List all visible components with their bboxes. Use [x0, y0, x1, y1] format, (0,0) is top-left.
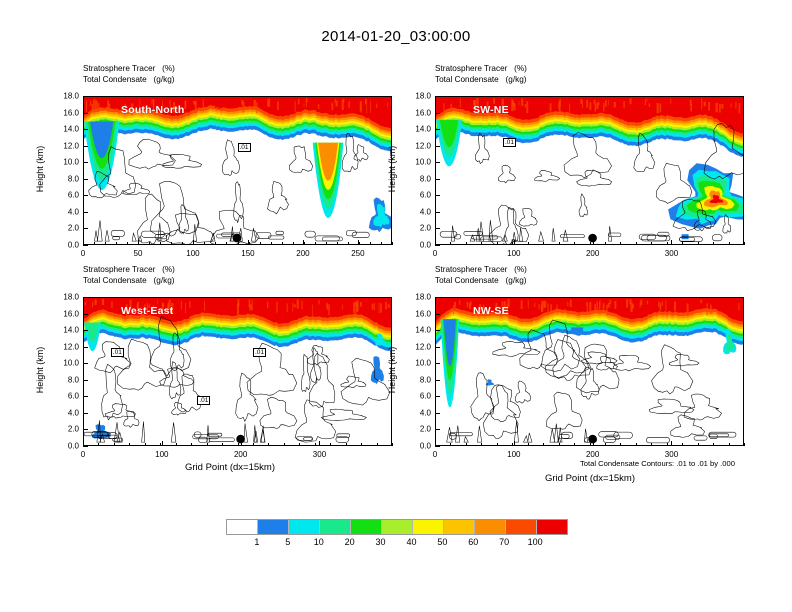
xtick-minor — [182, 242, 183, 245]
ytick-label: 0.0 — [401, 241, 431, 250]
ytick-label: 12.0 — [401, 141, 431, 150]
colorbar-tick-label: 10 — [314, 537, 324, 547]
xtick-mark — [593, 441, 594, 446]
xtick-label: 200 — [234, 450, 247, 459]
ytick-label: 16.0 — [49, 108, 79, 117]
xtick-mark — [514, 240, 515, 245]
tracer-field-nw-se — [436, 298, 743, 445]
ytick-mark — [83, 245, 88, 246]
xtick-minor — [713, 443, 714, 446]
colorbar-tick-label: 1 — [254, 537, 259, 547]
ytick-mark — [83, 347, 88, 348]
xtick-minor — [226, 242, 227, 245]
ytick-label: 14.0 — [49, 326, 79, 335]
panel-header-sw-ne: Stratosphere Tracer (%)Total Condensate … — [435, 64, 527, 85]
ytick-mark — [435, 212, 440, 213]
ytick-mark — [435, 347, 440, 348]
ytick-mark — [435, 228, 440, 229]
xtick-mark — [593, 240, 594, 245]
ytick-label: 8.0 — [49, 375, 79, 384]
ytick-label: 4.0 — [49, 408, 79, 417]
colorbar-tick-label: 20 — [345, 537, 355, 547]
ytick-label: 0.0 — [49, 442, 79, 451]
xtick-minor — [83, 443, 84, 446]
xtick-minor — [222, 443, 223, 446]
xtick-minor — [620, 443, 621, 446]
contour-value-label: .01 — [503, 138, 516, 147]
colorbar-tick-label: 30 — [376, 537, 386, 547]
ytick-label: 12.0 — [49, 342, 79, 351]
xtick-minor — [193, 242, 194, 245]
ytick-mark — [435, 113, 440, 114]
contour-value-label: .01 — [111, 348, 124, 357]
colorbar-segment — [227, 520, 257, 534]
xtick-minor — [605, 443, 606, 446]
ytick-mark — [435, 195, 440, 196]
xtick-minor — [450, 242, 451, 245]
xtick-label: 100 — [507, 450, 520, 459]
ytick-label: 16.0 — [401, 108, 431, 117]
ytick-mark — [435, 146, 440, 147]
xtick-minor — [744, 242, 745, 245]
xtick-minor — [282, 242, 283, 245]
ytick-mark — [435, 446, 440, 447]
tracer-field-sw-ne — [436, 97, 743, 244]
ytick-mark — [83, 380, 88, 381]
ytick-label: 12.0 — [401, 342, 431, 351]
xtick-minor — [348, 242, 349, 245]
xtick-label: 100 — [155, 450, 168, 459]
xtick-label: 100 — [507, 249, 520, 258]
xtick-minor — [543, 242, 544, 245]
xtick-minor — [651, 242, 652, 245]
ytick-mark — [83, 446, 88, 447]
ytick-label: 18.0 — [49, 92, 79, 101]
plot-area-south-north[interactable] — [83, 96, 392, 245]
ytick-mark — [435, 179, 440, 180]
ytick-label: 18.0 — [401, 92, 431, 101]
xaxis-label-left: Grid Point (dx=15km) — [130, 462, 330, 473]
ytick-label: 14.0 — [49, 125, 79, 134]
xtick-minor — [543, 443, 544, 446]
xtick-minor — [620, 242, 621, 245]
ytick-mark — [83, 146, 88, 147]
xtick-minor — [337, 242, 338, 245]
xtick-minor — [651, 443, 652, 446]
ytick-mark — [435, 129, 440, 130]
ytick-label: 6.0 — [401, 191, 431, 200]
xtick-minor — [116, 242, 117, 245]
ytick-label: 10.0 — [401, 158, 431, 167]
colorbar-labels: 1510203040506070100 — [226, 537, 566, 551]
xtick-minor — [238, 242, 239, 245]
xtick-label: 300 — [313, 450, 326, 459]
ytick-mark — [83, 396, 88, 397]
yaxis-label: Height (km) — [35, 134, 45, 204]
xtick-minor — [204, 242, 205, 245]
panel-header-west-east: Stratosphere Tracer (%)Total Condensate … — [83, 265, 175, 286]
xtick-minor — [149, 242, 150, 245]
xtick-minor — [271, 242, 272, 245]
xtick-minor — [260, 242, 261, 245]
xtick-minor — [268, 443, 269, 446]
xtick-minor — [304, 242, 305, 245]
xtick-minor — [682, 242, 683, 245]
ytick-label: 8.0 — [49, 174, 79, 183]
colorbar-segment — [257, 520, 288, 534]
ytick-mark — [83, 212, 88, 213]
xtick-minor — [129, 443, 130, 446]
tracer-field-south-north — [84, 97, 391, 244]
colorbar-segment — [505, 520, 536, 534]
xtick-mark — [241, 441, 242, 446]
xtick-label: 50 — [134, 249, 143, 258]
yaxis-label: Height (km) — [387, 335, 397, 405]
plot-area-west-east[interactable] — [83, 297, 392, 446]
xtick-mark — [319, 441, 320, 446]
ytick-label: 4.0 — [401, 408, 431, 417]
ytick-label: 2.0 — [49, 425, 79, 434]
xtick-mark — [671, 441, 672, 446]
colorbar-tick-label: 40 — [406, 537, 416, 547]
xtick-minor — [636, 443, 637, 446]
header-tracer-line: Stratosphere Tracer (%) — [83, 265, 175, 274]
colorbar-segment — [381, 520, 412, 534]
ytick-label: 16.0 — [401, 309, 431, 318]
panel-header-south-north: Stratosphere Tracer (%)Total Condensate … — [83, 64, 175, 85]
colorbar — [226, 519, 568, 535]
xtick-minor — [346, 443, 347, 446]
header-condensate-line: Total Condensate (g/kg) — [83, 276, 174, 285]
xtick-minor — [729, 443, 730, 446]
xtick-minor — [667, 443, 668, 446]
colorbar-segment — [474, 520, 505, 534]
xtick-minor — [207, 443, 208, 446]
ytick-mark — [83, 363, 88, 364]
xtick-minor — [698, 242, 699, 245]
ytick-mark — [83, 330, 88, 331]
xtick-minor — [127, 242, 128, 245]
panel-header-nw-se: Stratosphere Tracer (%)Total Condensate … — [435, 265, 527, 286]
ytick-mark — [83, 96, 88, 97]
ytick-mark — [83, 113, 88, 114]
xtick-minor — [590, 443, 591, 446]
xtick-minor — [435, 443, 436, 446]
ytick-mark — [83, 179, 88, 180]
yaxis-label: Height (km) — [35, 335, 45, 405]
xtick-minor — [466, 242, 467, 245]
contour-value-label: .01 — [253, 348, 266, 357]
ytick-mark — [435, 413, 440, 414]
xtick-minor — [682, 443, 683, 446]
xtick-label: 250 — [351, 249, 364, 258]
xtick-label: 200 — [586, 450, 599, 459]
ytick-label: 6.0 — [49, 392, 79, 401]
contour-note: Total Condensate Contours: .01 to .01 by… — [580, 459, 735, 468]
xtick-minor — [253, 443, 254, 446]
xaxis-label-right: Grid Point (dx=15km) — [490, 473, 690, 484]
ytick-mark — [435, 314, 440, 315]
header-condensate-line: Total Condensate (g/kg) — [435, 75, 526, 84]
xtick-minor — [145, 443, 146, 446]
xtick-minor — [105, 242, 106, 245]
ytick-mark — [435, 380, 440, 381]
xtick-minor — [698, 443, 699, 446]
colorbar-segment — [288, 520, 319, 534]
xtick-minor — [359, 242, 360, 245]
ytick-label: 2.0 — [49, 224, 79, 233]
ytick-label: 18.0 — [49, 293, 79, 302]
xtick-label: 300 — [665, 249, 678, 258]
colorbar-tick-label: 50 — [437, 537, 447, 547]
xtick-minor — [466, 443, 467, 446]
xtick-minor — [377, 443, 378, 446]
ytick-label: 8.0 — [401, 174, 431, 183]
xtick-minor — [215, 242, 216, 245]
plot-area-sw-ne[interactable] — [435, 96, 744, 245]
xtick-minor — [636, 242, 637, 245]
ytick-mark — [435, 297, 440, 298]
xtick-mark — [514, 441, 515, 446]
header-tracer-line: Stratosphere Tracer (%) — [83, 64, 175, 73]
xtick-minor — [114, 443, 115, 446]
xtick-minor — [293, 242, 294, 245]
xtick-minor — [559, 242, 560, 245]
ytick-label: 10.0 — [401, 359, 431, 368]
ytick-label: 6.0 — [401, 392, 431, 401]
colorbar-tick-label: 60 — [468, 537, 478, 547]
xtick-minor — [392, 443, 393, 446]
xtick-minor — [160, 443, 161, 446]
xtick-minor — [361, 443, 362, 446]
xtick-label: 300 — [665, 450, 678, 459]
xtick-minor — [326, 242, 327, 245]
ytick-label: 2.0 — [401, 224, 431, 233]
xtick-minor — [481, 242, 482, 245]
xtick-minor — [729, 242, 730, 245]
xtick-minor — [191, 443, 192, 446]
colorbar-tick-label: 100 — [528, 537, 543, 547]
xtick-minor — [171, 242, 172, 245]
xtick-minor — [160, 242, 161, 245]
xtick-minor — [744, 443, 745, 446]
xtick-minor — [299, 443, 300, 446]
colorbar-tick-label: 70 — [499, 537, 509, 547]
xtick-label: 0 — [433, 450, 437, 459]
xtick-minor — [284, 443, 285, 446]
ytick-label: 12.0 — [49, 141, 79, 150]
xtick-minor — [512, 242, 513, 245]
page-title: 2014-01-20_03:00:00 — [0, 28, 792, 45]
ytick-mark — [435, 363, 440, 364]
xtick-minor — [497, 242, 498, 245]
tracer-field-west-east — [84, 298, 391, 445]
xtick-minor — [435, 242, 436, 245]
xtick-minor — [713, 242, 714, 245]
ytick-label: 14.0 — [401, 326, 431, 335]
xtick-minor — [315, 242, 316, 245]
xtick-minor — [330, 443, 331, 446]
ytick-label: 0.0 — [401, 442, 431, 451]
ytick-label: 18.0 — [401, 293, 431, 302]
ytick-mark — [83, 429, 88, 430]
ytick-mark — [435, 429, 440, 430]
xtick-minor — [98, 443, 99, 446]
ytick-label: 2.0 — [401, 425, 431, 434]
xtick-label: 200 — [586, 249, 599, 258]
ytick-mark — [83, 314, 88, 315]
ytick-label: 6.0 — [49, 191, 79, 200]
ytick-mark — [83, 195, 88, 196]
xtick-label: 100 — [186, 249, 199, 258]
ytick-mark — [83, 297, 88, 298]
xtick-minor — [574, 443, 575, 446]
xtick-minor — [83, 242, 84, 245]
xtick-minor — [605, 242, 606, 245]
xtick-label: 150 — [241, 249, 254, 258]
contour-value-label: .01 — [238, 143, 251, 152]
xtick-minor — [528, 443, 529, 446]
ytick-label: 4.0 — [401, 207, 431, 216]
xtick-minor — [381, 242, 382, 245]
xtick-minor — [238, 443, 239, 446]
xtick-minor — [590, 242, 591, 245]
ytick-mark — [83, 228, 88, 229]
xtick-minor — [249, 242, 250, 245]
ytick-label: 4.0 — [49, 207, 79, 216]
ytick-mark — [83, 129, 88, 130]
header-tracer-line: Stratosphere Tracer (%) — [435, 64, 527, 73]
ytick-label: 10.0 — [49, 359, 79, 368]
ytick-mark — [435, 396, 440, 397]
ytick-label: 16.0 — [49, 309, 79, 318]
xtick-minor — [481, 443, 482, 446]
header-tracer-line: Stratosphere Tracer (%) — [435, 265, 527, 274]
xtick-minor — [176, 443, 177, 446]
ytick-label: 0.0 — [49, 241, 79, 250]
contour-value-label: .01 — [197, 396, 210, 405]
ytick-label: 8.0 — [401, 375, 431, 384]
ytick-mark — [435, 330, 440, 331]
plot-area-nw-se[interactable] — [435, 297, 744, 446]
ytick-mark — [435, 96, 440, 97]
ytick-mark — [83, 162, 88, 163]
xtick-minor — [392, 242, 393, 245]
ytick-label: 10.0 — [49, 158, 79, 167]
colorbar-segment — [412, 520, 443, 534]
colorbar-segment — [319, 520, 350, 534]
ytick-mark — [435, 245, 440, 246]
ytick-label: 14.0 — [401, 125, 431, 134]
yaxis-label: Height (km) — [387, 134, 397, 204]
xtick-minor — [497, 443, 498, 446]
ytick-mark — [83, 413, 88, 414]
colorbar-segment — [443, 520, 474, 534]
xtick-label: 0 — [81, 450, 85, 459]
colorbar-tick-label: 5 — [285, 537, 290, 547]
colorbar-segment — [350, 520, 381, 534]
xtick-minor — [528, 242, 529, 245]
xtick-label: 0 — [433, 249, 437, 258]
header-condensate-line: Total Condensate (g/kg) — [435, 276, 526, 285]
xtick-minor — [667, 242, 668, 245]
xtick-mark — [162, 441, 163, 446]
xtick-label: 0 — [81, 249, 85, 258]
xtick-minor — [138, 242, 139, 245]
xtick-minor — [94, 242, 95, 245]
xtick-minor — [512, 443, 513, 446]
xtick-minor — [370, 242, 371, 245]
xtick-label: 200 — [296, 249, 309, 258]
xtick-minor — [450, 443, 451, 446]
xtick-minor — [315, 443, 316, 446]
xtick-minor — [574, 242, 575, 245]
ytick-mark — [435, 162, 440, 163]
colorbar-segment — [536, 520, 567, 534]
xtick-mark — [671, 240, 672, 245]
xtick-minor — [559, 443, 560, 446]
header-condensate-line: Total Condensate (g/kg) — [83, 75, 174, 84]
